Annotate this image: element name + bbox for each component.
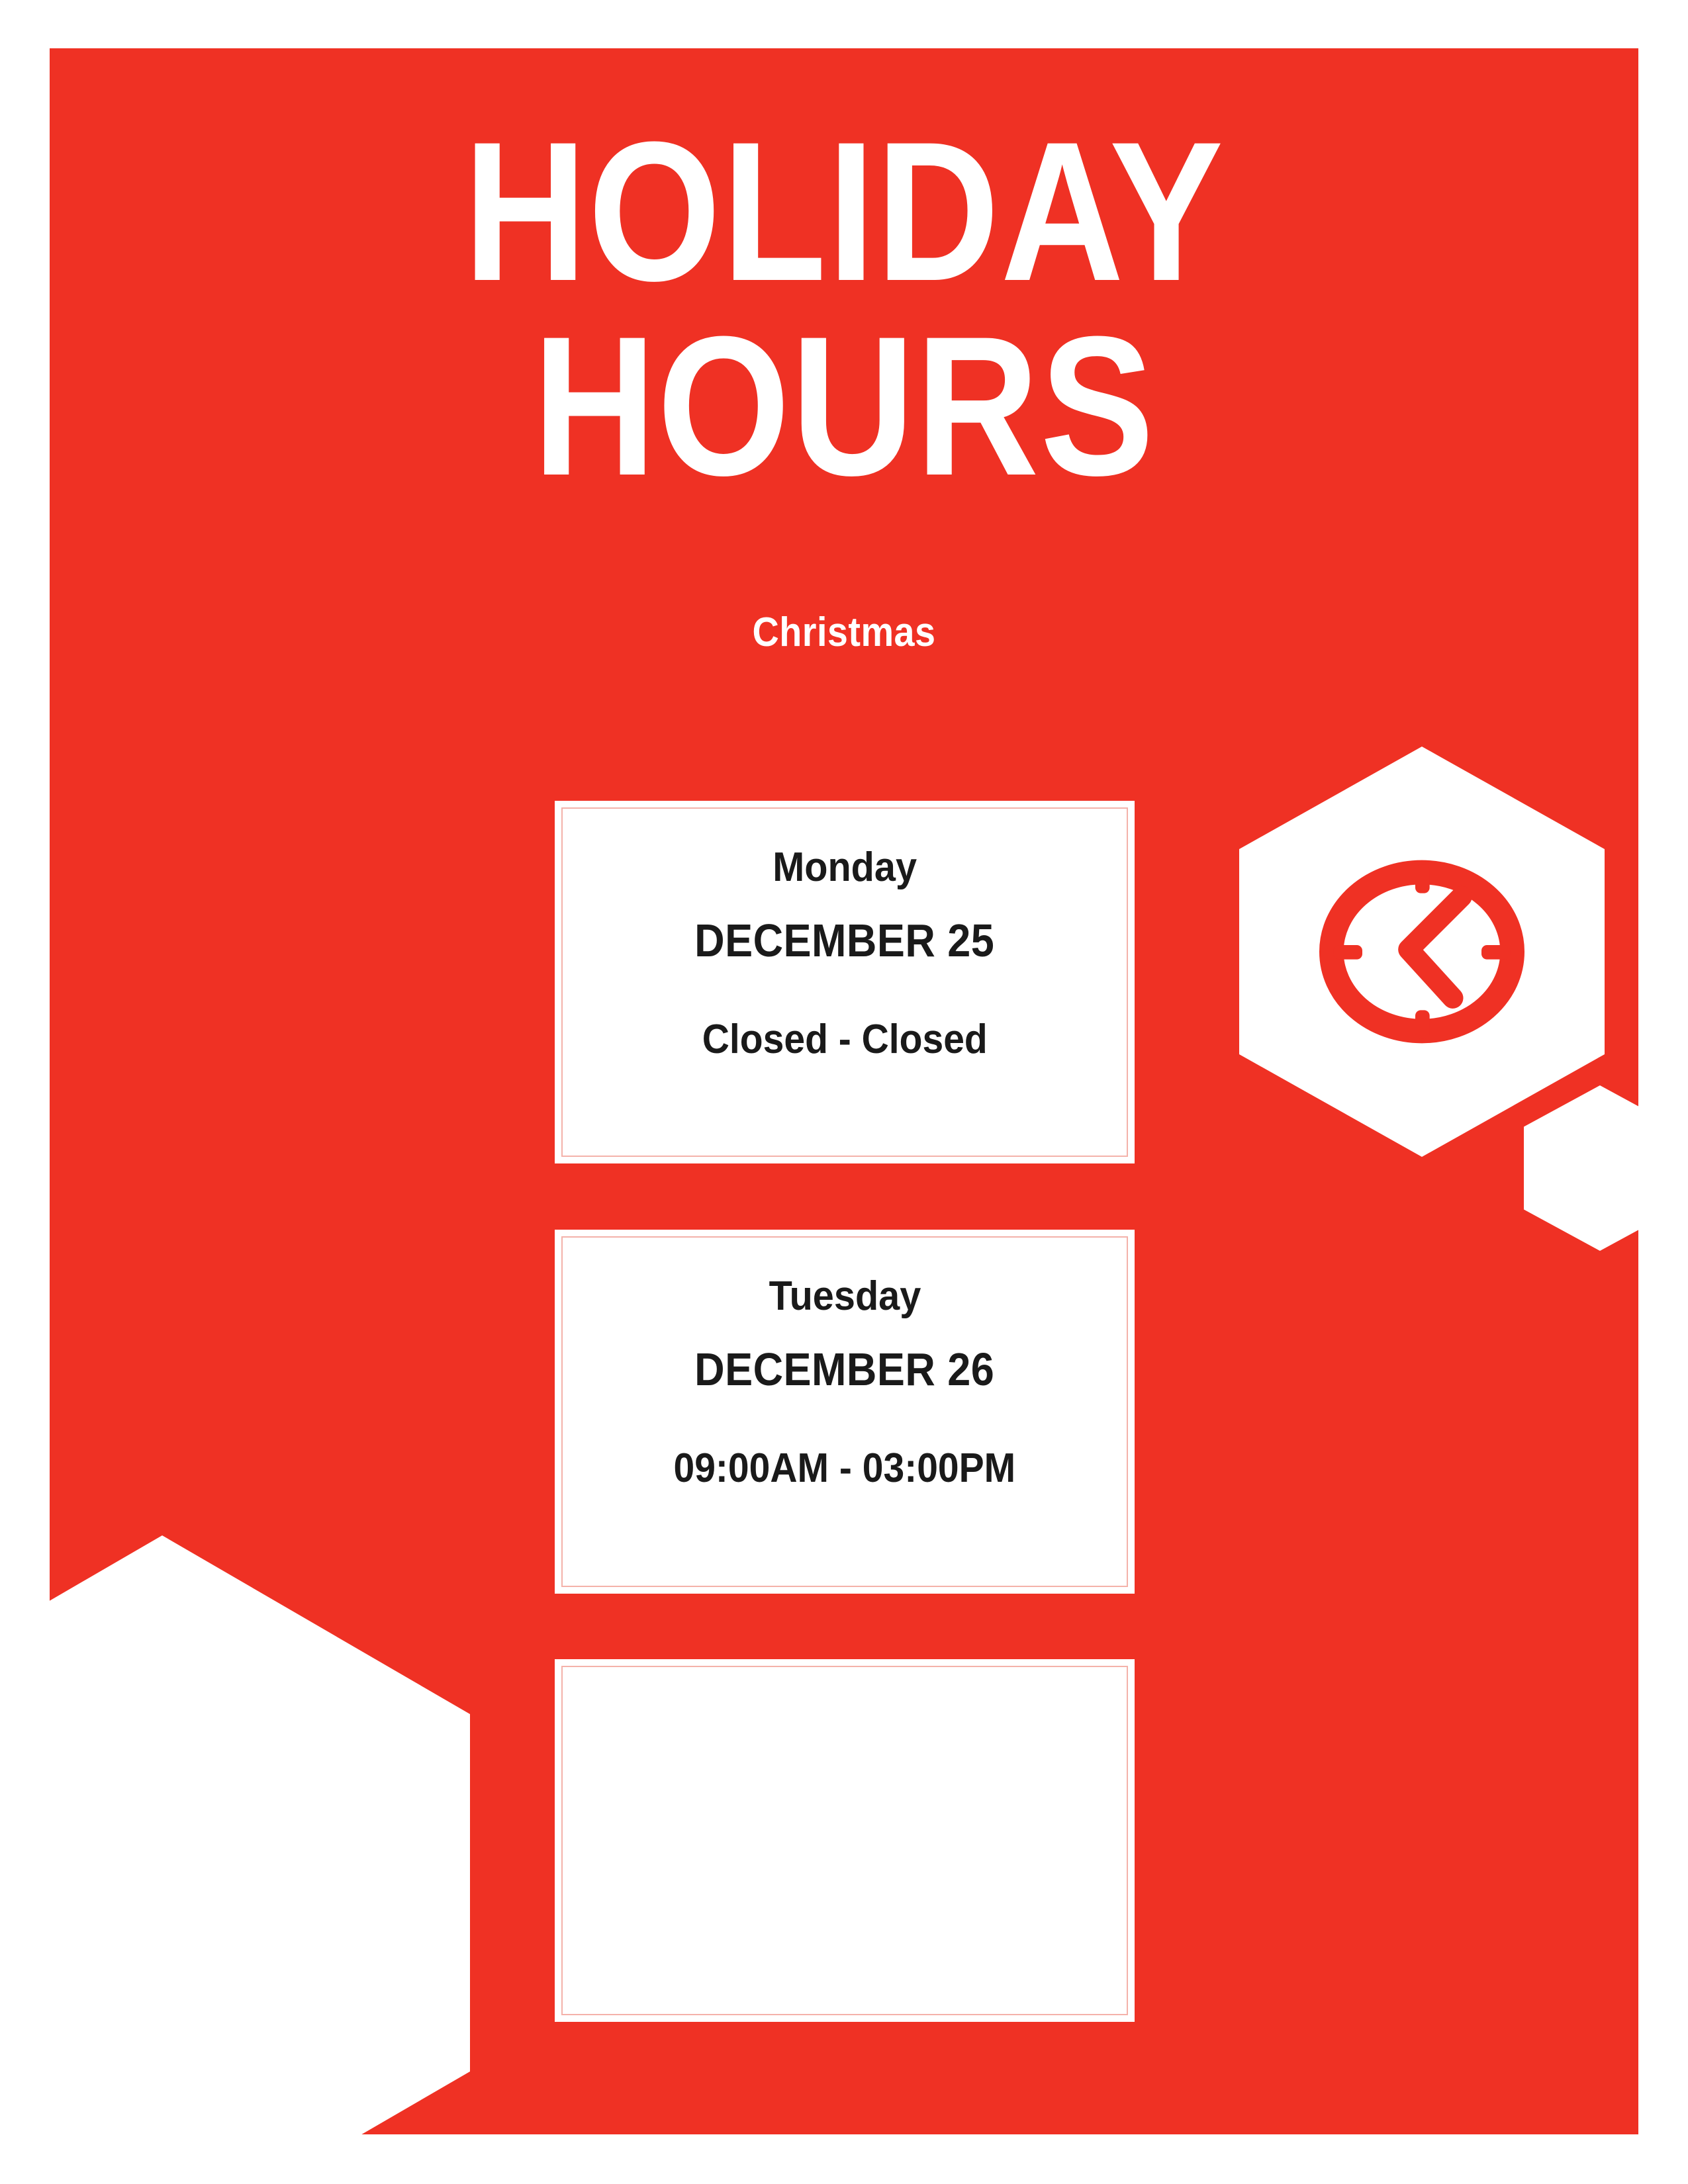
schedule-card-inner [561,1666,1128,2015]
schedule-hours-label: Closed - Closed [702,1019,987,1060]
clock-icon [1239,747,1605,1157]
schedule-card-inner: Monday DECEMBER 25 Closed - Closed [561,807,1128,1157]
schedule-date-label: DECEMBER 25 [694,917,994,964]
clock-glyph [1306,852,1538,1051]
schedule-day-label: Monday [773,847,917,888]
title-line-hours: HOURS [161,308,1527,503]
poster-subtitle: Christmas [129,609,1559,656]
schedule-card-inner: Tuesday DECEMBER 26 09:00AM - 03:00PM [561,1236,1128,1587]
title-line-holiday: HOLIDAY [161,114,1527,308]
schedule-date-label: DECEMBER 26 [694,1346,994,1392]
schedule-card-empty [555,1659,1135,2022]
schedule-hours-label: 09:00AM - 03:00PM [674,1448,1016,1489]
schedule-card: Monday DECEMBER 25 Closed - Closed [555,801,1135,1163]
holiday-hours-poster: HOLIDAY HOURS Christmas Monday DECEMBER … [0,0,1688,2184]
schedule-day-label: Tuesday [769,1276,921,1317]
schedule-card: Tuesday DECEMBER 26 09:00AM - 03:00PM [555,1230,1135,1594]
page-title: HOLIDAY HOURS [50,114,1638,503]
